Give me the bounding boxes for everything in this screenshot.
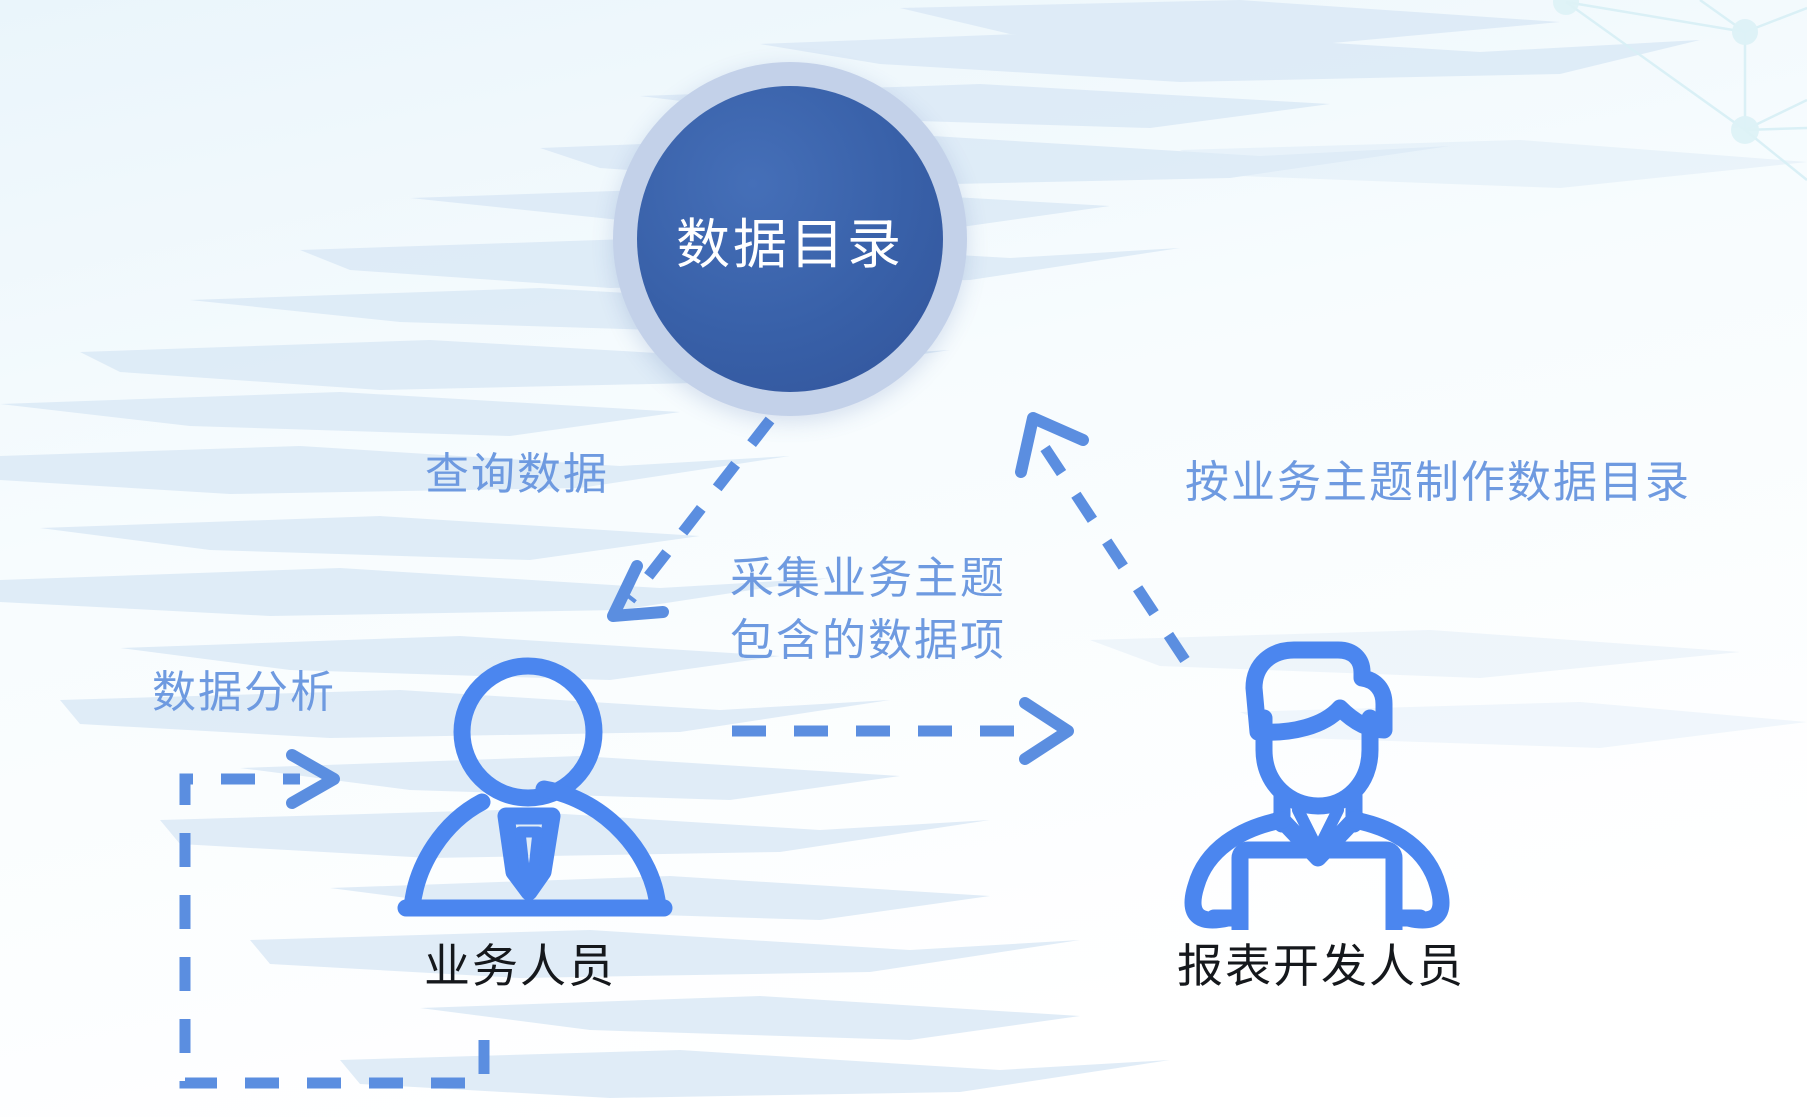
actor-label-report-developer: 报表开发人员	[1177, 930, 1465, 996]
diagram-canvas: 数据目录 查询数据 按业务主题制作数据目录 采集业务主题 包含的数据项 数据分析	[0, 0, 1807, 1117]
arrow-build-catalog	[1021, 418, 1185, 660]
edge-label-collect-items-line2: 包含的数据项	[730, 610, 1006, 672]
person-with-tie-icon[interactable]	[392, 636, 680, 932]
actor-label-business-person: 业务人员	[424, 930, 616, 996]
data-catalog-node[interactable]: 数据目录	[613, 62, 967, 416]
data-catalog-node-fill: 数据目录	[637, 86, 943, 392]
edge-label-query-data: 查询数据	[425, 444, 609, 506]
edge-label-data-analysis: 数据分析	[152, 662, 336, 724]
data-catalog-label: 数据目录	[676, 200, 904, 279]
edge-label-build-catalog: 按业务主题制作数据目录	[1185, 452, 1691, 514]
edge-label-collect-items-line1: 采集业务主题	[730, 548, 1006, 610]
edge-label-collect-items: 采集业务主题 包含的数据项	[730, 548, 1006, 673]
person-with-laptop-icon[interactable]	[1162, 618, 1472, 930]
arrow-collect-items	[732, 703, 1068, 759]
